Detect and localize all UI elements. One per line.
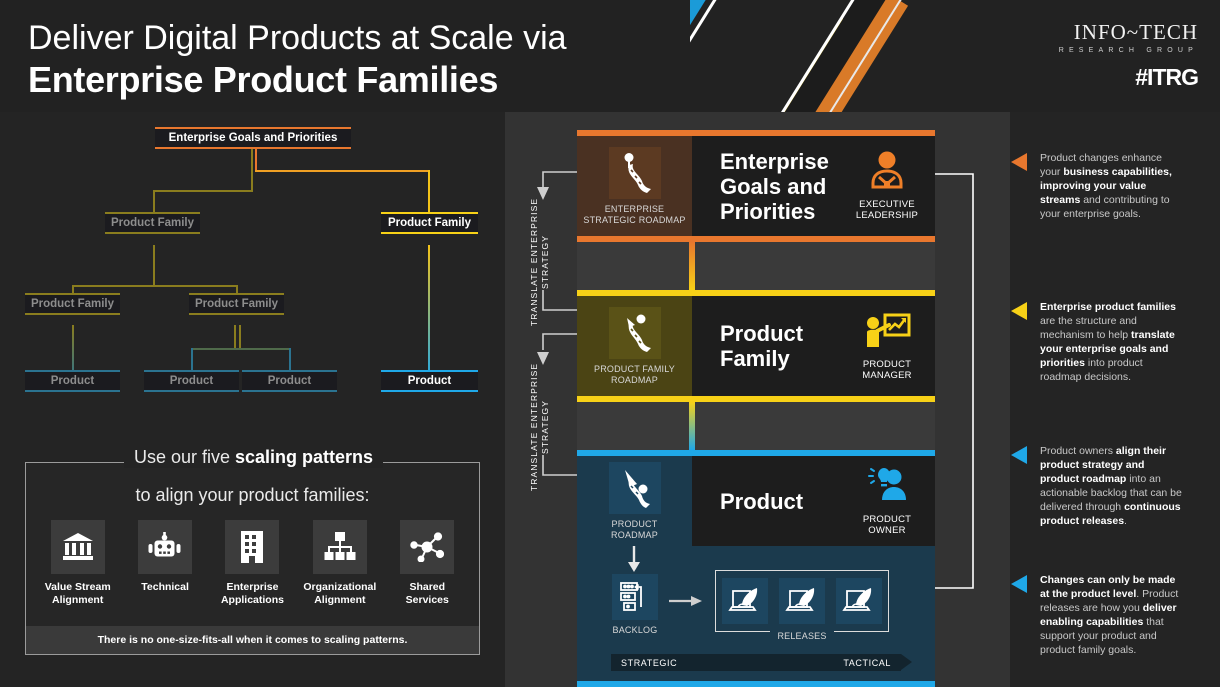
band-main: Product Family PRODUCT [692, 296, 935, 396]
releases-group[interactable] [715, 570, 889, 632]
tree-node-family-left-label: Product Family [111, 217, 194, 229]
scaling-patterns-title-row: Use our five scaling patterns [26, 447, 481, 468]
scale-right-label: TACTICAL [843, 658, 891, 668]
callout-product-releases: Changes can only be made at the product … [1027, 561, 1195, 671]
caption-line2: ROADMAP [611, 375, 658, 385]
band-title-product-family: Product Family [692, 321, 839, 371]
callout-arrow [1011, 575, 1027, 593]
pattern-label: Value Stream Alignment [38, 581, 118, 607]
band-product-family: PRODUCT FAMILY ROADMAP Product Family [577, 290, 935, 402]
tree-node-product-right-label: Product [408, 375, 451, 387]
pattern-organizational-alignment[interactable]: Organizational Alignment [300, 520, 380, 607]
band-body: PRODUCT FAMILY ROADMAP Product Family [577, 296, 935, 396]
role-product-manager: PRODUCT MANAGER [839, 311, 935, 381]
tree-line-level1-h-right [255, 170, 430, 172]
pattern-value-stream-alignment[interactable]: Value Stream Alignment [38, 520, 118, 607]
callout-part: Product owners [1040, 445, 1116, 457]
band-rule-bottom [577, 681, 935, 687]
roadmap-icon [609, 147, 661, 199]
role-label: EXECUTIVE LEADERSHIP [839, 199, 935, 221]
tree-node-root-label: Enterprise Goals and Priorities [169, 132, 338, 144]
arrowhead-down-2 [537, 352, 549, 365]
pattern-enterprise-applications[interactable]: Enterprise Applications [212, 520, 292, 607]
header: Deliver Digital Products at Scale via En… [0, 0, 1220, 112]
band-title-line3: Priorities [720, 199, 815, 224]
scale-left-label: STRATEGIC [621, 658, 677, 668]
tree-node-product-right[interactable]: Product [381, 370, 478, 392]
tree-node-family-right[interactable]: Product Family [381, 212, 478, 234]
release-icon [722, 578, 768, 624]
logo-tagline: RESEARCH GROUP [1059, 47, 1198, 54]
pattern-label: Shared Services [387, 581, 467, 607]
strategic-tactical-scale: STRATEGIC TACTICAL [611, 654, 901, 671]
tree-line-level1-h-left [153, 190, 253, 192]
pattern-label: Technical [125, 581, 205, 594]
center-diagram: TRANSLATE ENTERPRISE STRATEGY TRANSLATE … [505, 112, 1010, 687]
delivery-flow: BACKLOG [577, 546, 935, 654]
pattern-label-line1: Organizational [303, 581, 376, 593]
caption-line1: ENTERPRISE [605, 204, 665, 214]
callout-arrow [1011, 302, 1027, 320]
role-label-line2: OWNER [868, 525, 905, 536]
tree-line-famB-stem1 [234, 325, 236, 350]
role-label-line1: PRODUCT [863, 514, 911, 525]
tree-node-product-a[interactable]: Product [25, 370, 120, 392]
icon-caption: PRODUCT FAMILY ROADMAP [594, 364, 675, 386]
tree-line-fam-left-stem [153, 245, 155, 285]
scaling-patterns-panel: Use our five scaling patterns to align y… [25, 462, 480, 655]
gap-bg-1b [577, 242, 689, 290]
pattern-label-line1: Value Stream [45, 581, 111, 593]
tree-node-product-b-label: Product [170, 375, 213, 387]
arrow-backlog-to-releases [669, 594, 705, 608]
tree-node-family-left-a-label: Product Family [31, 298, 114, 310]
callout-part: . [1124, 515, 1127, 527]
pattern-label-line1: Shared [409, 581, 445, 593]
building-icon [225, 520, 279, 574]
band-enterprise-goals: ENTERPRISE STRATEGIC ROADMAP Enterprise … [577, 130, 935, 242]
callout-arrow [1011, 153, 1027, 171]
org-chart-icon [313, 520, 367, 574]
role-label-line2: LEADERSHIP [856, 210, 918, 221]
title-prefix: Use our five [134, 447, 235, 467]
band-title-line1: Product [720, 489, 803, 514]
role-product-owner: PRODUCT OWNER [839, 466, 935, 536]
callout-part: are the structure and mechanism to help [1040, 315, 1137, 341]
arrowhead-down-1 [537, 187, 549, 200]
roadmap-icon [609, 462, 661, 514]
scale-arrow-tip [901, 654, 912, 670]
callout-text: Product changes enhance your business ca… [1040, 151, 1182, 221]
pattern-label-line1: Enterprise [227, 581, 279, 593]
pattern-label-line1: Technical [141, 581, 189, 593]
band-icon-col: PRODUCT ROADMAP [577, 456, 692, 546]
callout-part-bold: Enterprise product families [1040, 301, 1176, 313]
gap-bg-2b [695, 402, 935, 450]
role-label: PRODUCT MANAGER [839, 359, 935, 381]
callout-text: Product owners align their product strat… [1040, 444, 1182, 528]
arrow-roadmap-to-backlog [619, 546, 649, 574]
executive-leadership-icon [865, 151, 909, 191]
tree-node-product-c[interactable]: Product [242, 370, 337, 392]
product-manager-icon [863, 311, 911, 351]
scaling-patterns-title: Use our five scaling patterns [124, 447, 383, 468]
band-title-line1: Enterprise [720, 149, 829, 174]
brand-logo: INFO~TECH RESEARCH GROUP #ITRG [1059, 20, 1198, 91]
caption-line2: STRATEGIC ROADMAP [583, 215, 685, 225]
pattern-label-line2: Applications [221, 594, 284, 606]
band-icon-col: PRODUCT FAMILY ROADMAP [577, 296, 692, 396]
band-body: ENTERPRISE STRATEGIC ROADMAP Enterprise … [577, 136, 935, 236]
band-title-product: Product [692, 489, 839, 514]
role-label-line1: PRODUCT [863, 359, 911, 370]
callout-enterprise-goals: Product changes enhance your business ca… [1027, 139, 1195, 237]
tree-node-family-left-b[interactable]: Product Family [189, 293, 284, 315]
band-title-line2: Family [720, 346, 790, 371]
callout-text: Enterprise product families are the stru… [1040, 300, 1182, 384]
tree-node-root[interactable]: Enterprise Goals and Priorities [155, 127, 351, 149]
scaling-patterns-subtitle: to align your product families: [26, 485, 479, 506]
callout-arrow [1011, 446, 1027, 464]
release-icon [836, 578, 882, 624]
logo-wordmark: INFO~TECH [1059, 20, 1198, 45]
roadmap-icon [609, 307, 661, 359]
callout-product-family: Enterprise product families are the stru… [1027, 288, 1195, 386]
backlog-node[interactable]: BACKLOG [611, 574, 659, 636]
product-owner-icon [864, 466, 910, 506]
tree-node-product-a-label: Product [51, 375, 94, 387]
robot-icon [138, 520, 192, 574]
pattern-shared-services[interactable]: Shared Services [387, 520, 467, 607]
tree-line-root-down [251, 148, 253, 191]
band-main: Enterprise Goals and Priorities EXECUTIV… [692, 136, 935, 236]
logo-hashtag: #ITRG [1059, 64, 1198, 91]
release-icon [779, 578, 825, 624]
title-line-1: Deliver Digital Products at Scale via [28, 18, 567, 58]
tree-node-product-b[interactable]: Product [144, 370, 239, 392]
tree-node-product-c-label: Product [268, 375, 311, 387]
product-family-tree: Enterprise Goals and Priorities Product … [0, 120, 505, 420]
role-label-line2: MANAGER [862, 370, 911, 381]
icon-caption: ENTERPRISE STRATEGIC ROADMAP [583, 204, 685, 226]
role-label-line1: EXECUTIVE [859, 199, 915, 210]
tree-line-level3-h [191, 348, 291, 350]
page-title: Deliver Digital Products at Scale via En… [28, 18, 567, 102]
callout-text: Changes can only be made at the product … [1040, 573, 1182, 657]
band-title-line1: Product [720, 321, 803, 346]
pattern-label-line2: Services [406, 594, 449, 606]
scaling-patterns-list: Value Stream Alignment Technical Enterpr… [26, 520, 479, 607]
band-product: PRODUCT ROADMAP Product [577, 450, 935, 687]
band-main: Product PRODUCT [692, 456, 935, 546]
network-nodes-icon [400, 520, 454, 574]
role-executive-leadership: EXECUTIVE LEADERSHIP [839, 151, 935, 221]
bank-icon [51, 520, 105, 574]
callout-product-owner: Product owners align their product strat… [1027, 432, 1195, 542]
role-label: PRODUCT OWNER [839, 514, 935, 536]
pattern-label-line2: Alignment [314, 594, 365, 606]
stripe-white-thin-1 [690, 0, 741, 112]
pattern-label-line2: Alignment [52, 594, 103, 606]
tree-node-family-left-b-label: Product Family [195, 298, 278, 310]
pattern-label: Organizational Alignment [300, 581, 380, 607]
backlog-icon [612, 574, 658, 620]
pattern-technical[interactable]: Technical [125, 520, 205, 607]
band-title-line2: Goals and [720, 174, 826, 199]
releases-label: RELEASES [770, 631, 834, 642]
tree-line-prodRight-stem [428, 245, 430, 382]
tree-line-famB-stem2 [239, 325, 241, 350]
gap-bg-1 [695, 242, 935, 290]
icon-caption: PRODUCT ROADMAP [611, 519, 658, 541]
title-bold: scaling patterns [235, 447, 373, 467]
caption-line2: ROADMAP [611, 530, 658, 540]
backlog-label: BACKLOG [611, 625, 659, 636]
gap-bg-2 [577, 402, 689, 450]
scaling-patterns-footer: There is no one-size-fits-all when it co… [26, 626, 479, 654]
caption-line1: PRODUCT FAMILY [594, 364, 675, 374]
tree-line-level2-h [72, 285, 237, 287]
infographic-root: Deliver Digital Products at Scale via En… [0, 0, 1220, 687]
tree-node-family-right-label: Product Family [388, 217, 471, 229]
band-product-body: PRODUCT ROADMAP Product [577, 456, 935, 681]
tree-node-family-left-a[interactable]: Product Family [25, 293, 120, 315]
tree-node-family-left[interactable]: Product Family [105, 212, 200, 234]
caption-line1: PRODUCT [612, 519, 658, 529]
title-line-2: Enterprise Product Families [28, 58, 567, 102]
band-icon-col: ENTERPRISE STRATEGIC ROADMAP [577, 136, 692, 236]
band-body: PRODUCT ROADMAP Product [577, 456, 935, 546]
tree-line-root-right-down [255, 148, 257, 171]
band-title-enterprise-goals: Enterprise Goals and Priorities [692, 149, 839, 224]
pattern-label: Enterprise Applications [212, 581, 292, 607]
